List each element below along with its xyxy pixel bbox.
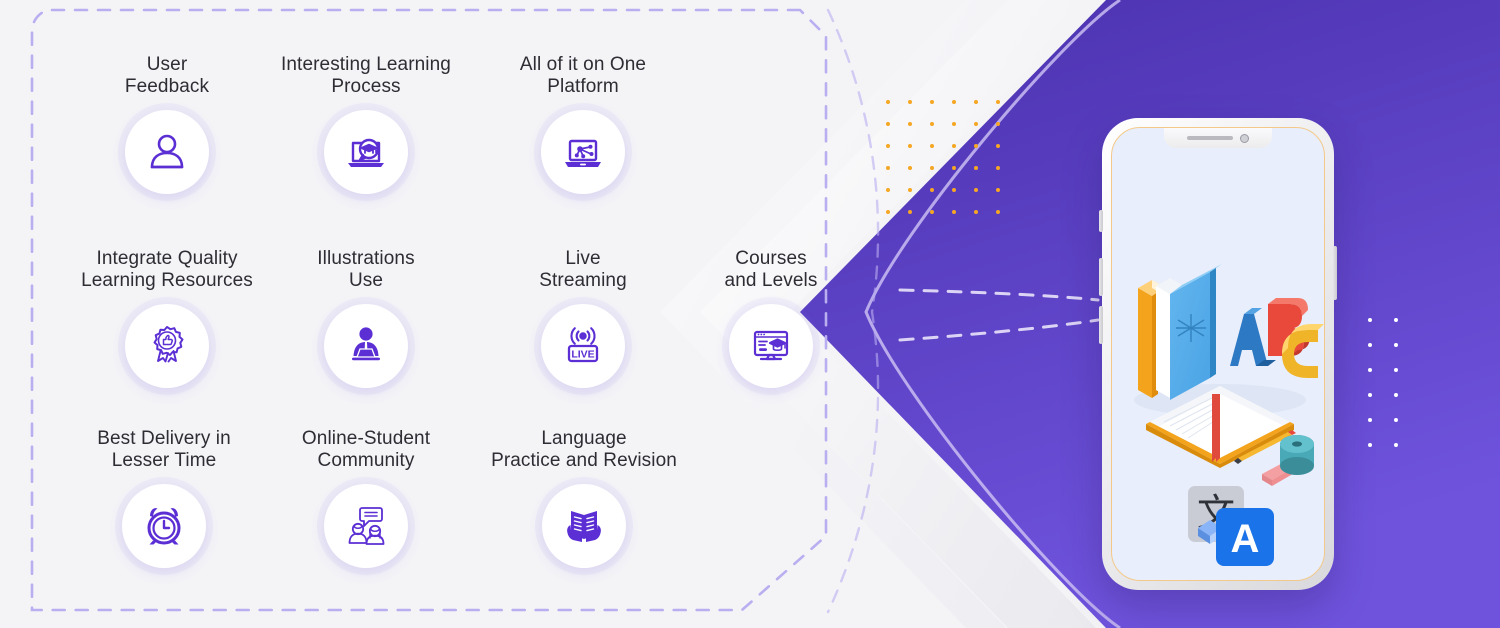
svg-text:LIVE: LIVE <box>571 348 594 360</box>
open-book-hands-icon[interactable] <box>542 484 626 568</box>
education-illustration: 文 A <box>1112 128 1325 581</box>
feature-label: Language Practice and Revision <box>478 428 690 472</box>
feature-all-on-one-platform[interactable]: All of it on One Platform <box>478 54 688 194</box>
feature-courses-and-levels[interactable]: Courses and Levels <box>666 248 876 388</box>
feature-label: Best Delivery in Lesser Time <box>59 428 269 472</box>
promo-banner: 文 A User Feedback <box>0 0 1500 628</box>
feature-label: All of it on One Platform <box>478 54 688 98</box>
feature-label: Live Streaming <box>478 248 688 292</box>
feature-language-practice-revision[interactable]: Language Practice and Revision <box>478 428 690 568</box>
orange-dot-grid <box>886 100 1018 232</box>
feature-illustrations-use[interactable]: Illustrations Use <box>261 248 471 388</box>
phone-power-button[interactable] <box>1333 246 1337 300</box>
svg-text:A: A <box>1231 517 1260 561</box>
white-dot-grid <box>1368 318 1420 468</box>
alarm-clock-icon[interactable] <box>122 484 206 568</box>
community-chat-icon[interactable] <box>324 484 408 568</box>
phone-screen[interactable]: 文 A <box>1111 127 1325 581</box>
monitor-graduation-icon[interactable] <box>729 304 813 388</box>
feature-label: Interesting Learning Process <box>261 54 471 98</box>
feature-interesting-learning-process[interactable]: Interesting Learning Process <box>261 54 471 194</box>
feature-live-streaming[interactable]: Live Streaming LIVE <box>478 248 688 388</box>
feature-label: Illustrations Use <box>261 248 471 292</box>
phone-volume-up-button[interactable] <box>1099 258 1103 296</box>
feature-best-delivery-lesser-time[interactable]: Best Delivery in Lesser Time <box>59 428 269 568</box>
person-laptop-icon[interactable] <box>324 304 408 388</box>
feature-label: Courses and Levels <box>666 248 876 292</box>
user-feedback-icon[interactable] <box>125 110 209 194</box>
tape-roll <box>1280 435 1314 475</box>
feature-label: User Feedback <box>62 54 272 98</box>
live-streaming-icon[interactable]: LIVE <box>541 304 625 388</box>
features-grid: User Feedback Interesting Learning Proce… <box>0 0 860 628</box>
feature-online-student-community[interactable]: Online-Student Community <box>261 428 471 568</box>
phone-mute-switch[interactable] <box>1099 210 1103 232</box>
phone-mockup: 文 A <box>1102 118 1334 590</box>
feature-label: Integrate Quality Learning Resources <box>59 248 275 292</box>
translate-icon: 文 A <box>1188 486 1274 566</box>
feature-label: Online-Student Community <box>261 428 471 472</box>
laptop-network-icon[interactable] <box>541 110 625 194</box>
feature-user-feedback[interactable]: User Feedback <box>62 54 272 194</box>
phone-volume-down-button[interactable] <box>1099 306 1103 344</box>
laptop-chat-graduate-icon[interactable] <box>324 110 408 194</box>
quality-badge-thumb-icon[interactable] <box>125 304 209 388</box>
feature-integrate-quality-resources[interactable]: Integrate Quality Learning Resources <box>59 248 275 388</box>
